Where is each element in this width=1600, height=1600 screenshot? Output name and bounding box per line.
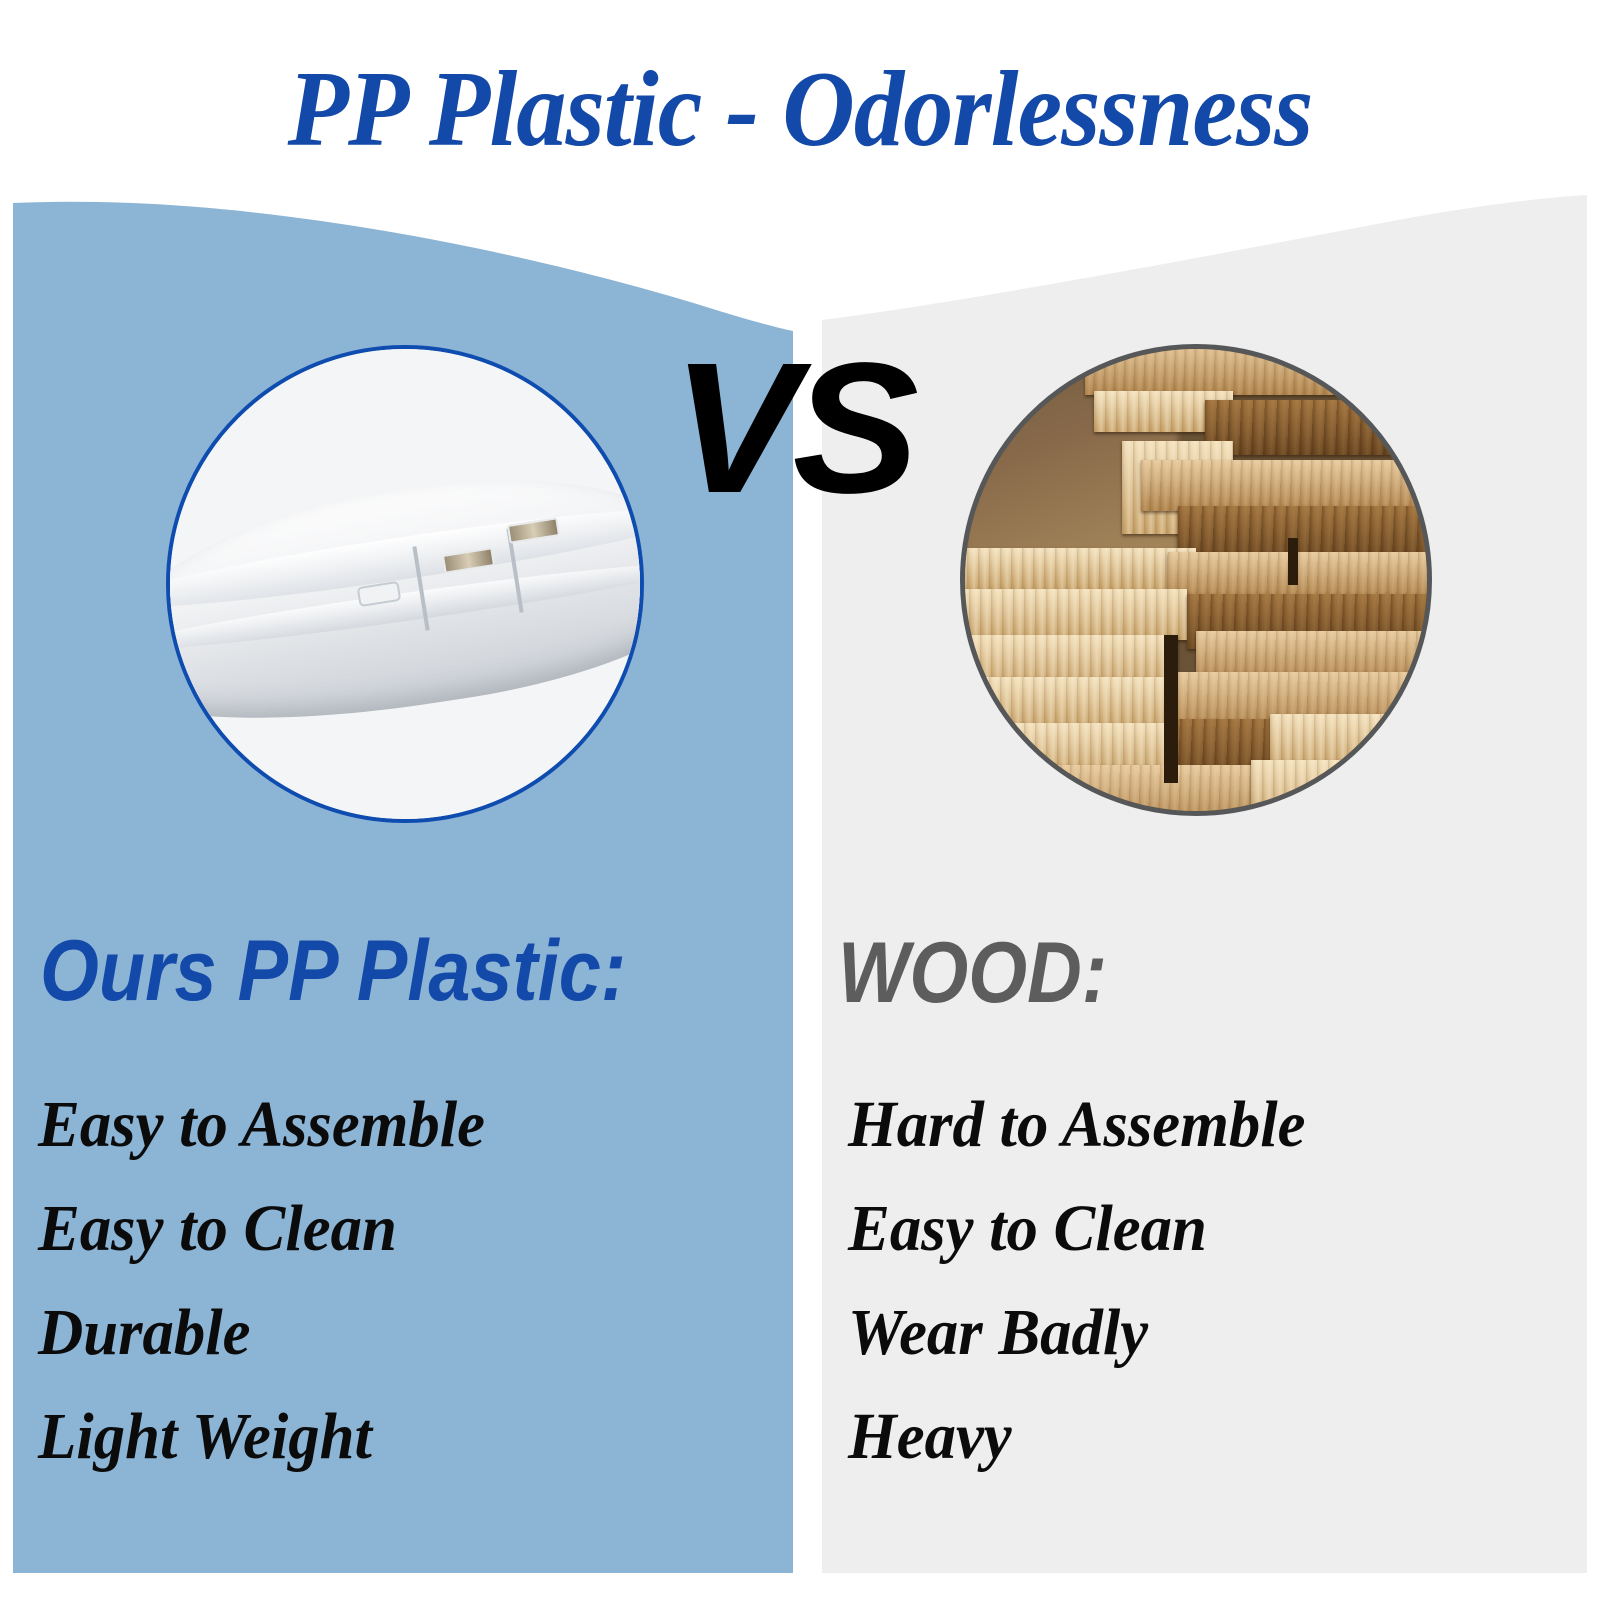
wood-plank xyxy=(1205,400,1432,455)
wood-plank xyxy=(1085,344,1432,395)
list-item: Heavy xyxy=(848,1390,1305,1484)
pp-plastic-image xyxy=(166,345,644,823)
wood-plank xyxy=(1030,765,1279,816)
list-item: Easy to Clean xyxy=(848,1182,1305,1276)
wood-plank xyxy=(960,548,1196,590)
page-title: PP Plastic - Odorlessness xyxy=(56,52,1544,169)
wood-gap-vertical xyxy=(1288,538,1297,584)
list-item: Durable xyxy=(38,1286,485,1380)
plastic-product-illustration xyxy=(170,349,640,819)
heading-wood: WOOD: xyxy=(838,930,1107,1016)
heading-pp-plastic: Ours PP Plastic: xyxy=(40,928,626,1014)
wood-plank xyxy=(1251,760,1432,816)
list-item: Hard to Assemble xyxy=(848,1078,1305,1172)
wood-image xyxy=(960,344,1432,816)
wood-plank xyxy=(1141,460,1432,511)
wood-plank xyxy=(960,589,1187,640)
list-item: Easy to Clean xyxy=(38,1182,485,1276)
comparison-infographic: PP Plastic - Odorlessness xyxy=(0,0,1600,1600)
feature-list-pp-plastic: Easy to Assemble Easy to Clean Durable L… xyxy=(38,1078,485,1494)
wood-stack-illustration xyxy=(965,349,1427,811)
list-item: Easy to Assemble xyxy=(38,1078,485,1172)
vs-label: VS xyxy=(672,336,913,522)
wood-gap-vertical xyxy=(1164,635,1178,783)
list-item: Light Weight xyxy=(38,1390,485,1484)
list-item: Wear Badly xyxy=(848,1286,1305,1380)
wood-plank xyxy=(1168,552,1432,598)
wood-plank xyxy=(960,677,1168,728)
feature-list-wood: Hard to Assemble Easy to Clean Wear Badl… xyxy=(848,1078,1305,1494)
